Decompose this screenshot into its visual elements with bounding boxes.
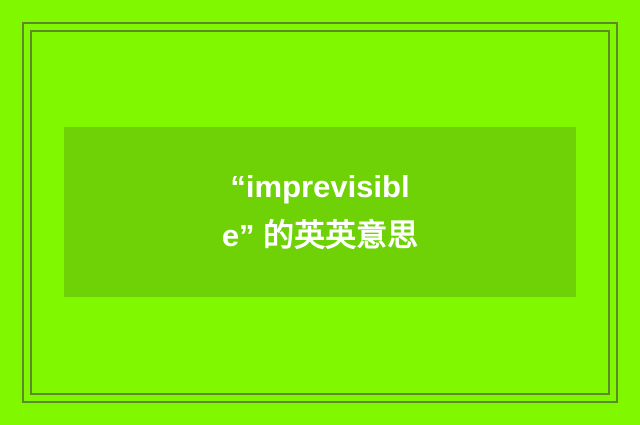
title-panel: “imprevisible” 的英英意思 <box>64 127 576 297</box>
image-canvas: “imprevisible” 的英英意思 <box>0 0 640 425</box>
page-title: “imprevisible” 的英英意思 <box>220 163 420 261</box>
